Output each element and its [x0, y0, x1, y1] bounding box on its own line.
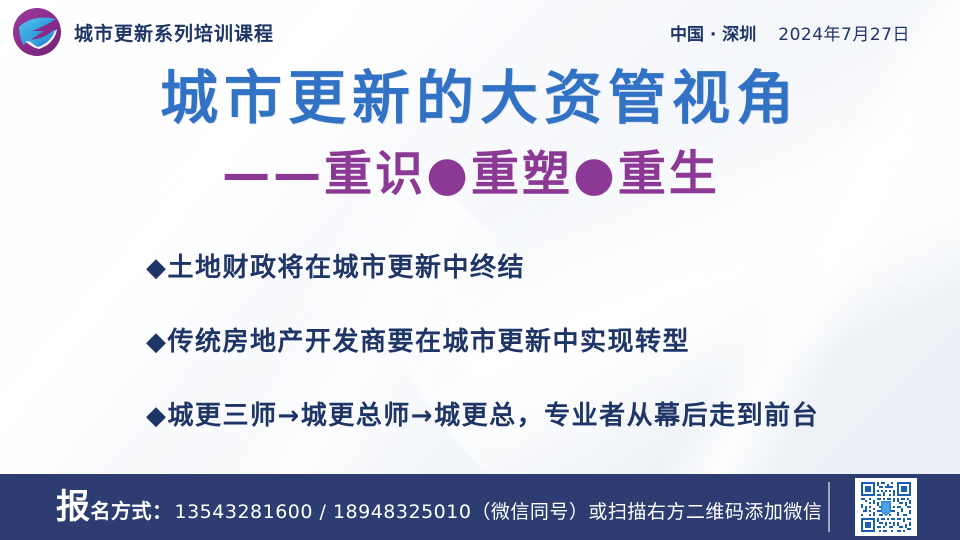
- registration-label-big: 报: [56, 490, 91, 524]
- zl-logo-icon: [10, 5, 64, 59]
- registration-info: 报 名方式： 13543281600 / 18948325010（微信同号）或扫…: [56, 490, 822, 524]
- footer-divider: [828, 482, 830, 532]
- header-date: 2024年7月27日: [778, 20, 910, 45]
- bullet-item: ◆土地财政将在城市更新中终结: [0, 228, 960, 302]
- brand-name: 城市更新系列培训课程: [74, 19, 274, 46]
- wechat-qr-code[interactable]: [855, 478, 917, 536]
- bullet-list: ◆土地财政将在城市更新中终结 ◆传统房地产开发商要在城市更新中实现转型 ◆城更三…: [0, 228, 960, 450]
- bullet-item: ◆城更三师→城更总师→城更总，专业者从幕后走到前台: [0, 376, 960, 450]
- header-location: 中国 · 深圳: [670, 20, 756, 45]
- poster-subtitle: ——重识●重塑●重生: [0, 146, 960, 204]
- brand-block: 城市更新系列培训课程: [10, 5, 274, 59]
- registration-label-rest: 名方式：: [91, 495, 173, 524]
- poster-canvas: 城市更新系列培训课程 中国 · 深圳 2024年7月27日 城市更新的大资管视角…: [0, 0, 960, 540]
- header-meta: 中国 · 深圳 2024年7月27日: [670, 20, 910, 45]
- bullet-item: ◆传统房地产开发商要在城市更新中实现转型: [0, 302, 960, 376]
- poster-title: 城市更新的大资管视角: [0, 66, 960, 131]
- registration-contact: 13543281600 / 18948325010（微信同号）或扫描右方二维码添…: [175, 497, 823, 524]
- poster-header: 城市更新系列培训课程 中国 · 深圳 2024年7月27日: [0, 0, 960, 64]
- poster-footer: 报 名方式： 13543281600 / 18948325010（微信同号）或扫…: [0, 474, 960, 540]
